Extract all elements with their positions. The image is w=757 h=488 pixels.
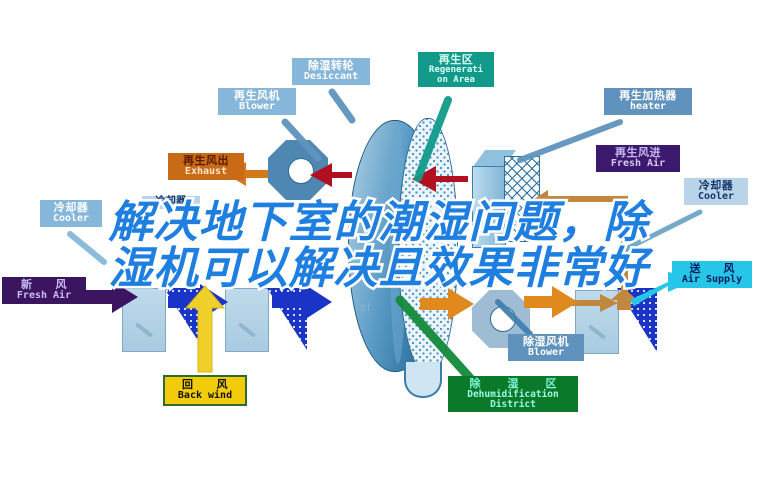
label-dehumidify-blower[interactable]: 除湿风机 Blower xyxy=(508,334,584,361)
label-regen-air-in[interactable]: 再生风进 Fresh Air xyxy=(596,145,680,172)
label-dehumidify-blower-en: Blower xyxy=(512,348,580,359)
label-desiccant-rotor-en: Desiccant xyxy=(296,72,366,83)
headline-line-1: 解决地下室的潮湿问题，除 xyxy=(0,200,757,246)
label-dehumidification-district[interactable]: 除 湿 区 Dehumidification District xyxy=(448,376,578,412)
label-regen-blower-en: Blower xyxy=(222,102,292,113)
label-regen-heater-en: heater xyxy=(608,102,688,113)
label-regen-blower[interactable]: 再生风机 Blower xyxy=(218,88,296,115)
label-exhaust[interactable]: 再生风出 Exhaust xyxy=(168,153,244,180)
label-desiccant-rotor[interactable]: 除湿转轮 Desiccant xyxy=(292,58,370,85)
leader-desiccant xyxy=(332,92,352,120)
headline-overlay: 解决地下室的潮湿问题，除 湿机可以解决且效果非常好 xyxy=(0,200,757,292)
label-fresh-air-in-en: Fresh Air xyxy=(6,291,82,302)
label-regeneration-area[interactable]: 再生区 Regenerati on Area xyxy=(418,52,494,87)
label-back-wind[interactable]: 回 风 Back wind xyxy=(163,375,247,406)
label-regeneration-area-en: Regenerati on Area xyxy=(422,66,490,85)
leader-regen-blower xyxy=(285,122,318,158)
headline-line-2: 湿机可以解决且效果非常好 xyxy=(0,246,757,292)
label-dehumidification-district-en: Dehumidification District xyxy=(452,390,574,411)
leader-regeneration-area xyxy=(418,100,448,178)
label-exhaust-en: Exhaust xyxy=(172,167,240,178)
label-back-wind-en: Back wind xyxy=(169,391,241,402)
diagram-canvas: xt xyxy=(0,0,757,488)
arrow-regen-hot-a xyxy=(310,163,352,187)
label-regen-air-in-en: Fresh Air xyxy=(600,159,676,170)
label-regen-heater[interactable]: 再生加热器 heater xyxy=(604,88,692,115)
